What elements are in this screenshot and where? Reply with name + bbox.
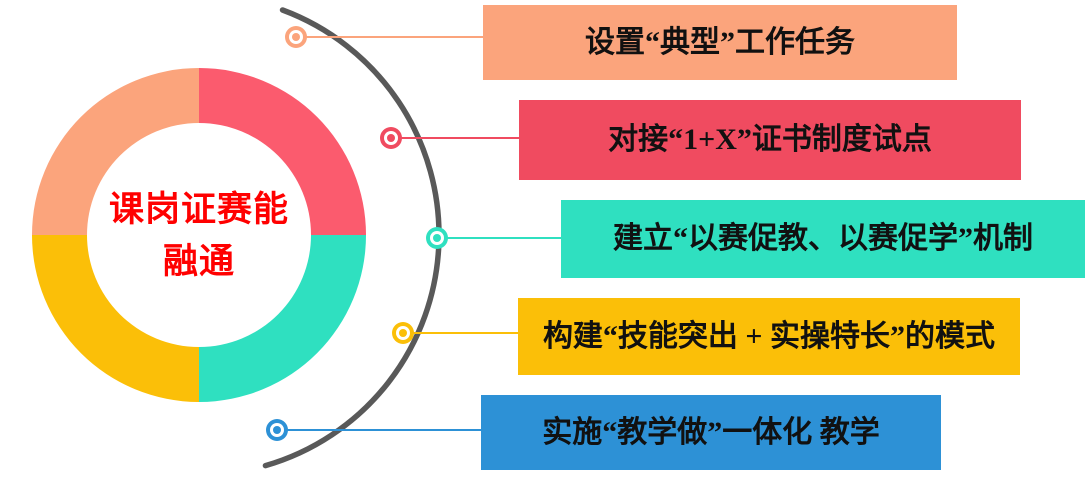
- label-box-1[interactable]: 设置“典型”工作任务: [483, 5, 957, 80]
- label-text-2: 对接“1+X”证书制度试点: [608, 123, 932, 157]
- marker-icon-5[interactable]: [266, 419, 288, 441]
- label-text-1: 设置“典型”工作任务: [585, 26, 855, 60]
- diagram-canvas: 课岗证赛能 融通 设置“典型”工作任务 对接“1+X”证书制度试点 建立“以赛促…: [0, 0, 1085, 494]
- label-box-5[interactable]: 实施“教学做”一体化 教学: [481, 395, 941, 470]
- label-box-2[interactable]: 对接“1+X”证书制度试点: [519, 100, 1021, 180]
- label-text-5: 实施“教学做”一体化 教学: [542, 416, 880, 450]
- label-text-3: 建立“以赛促教、以赛促学”机制: [613, 222, 1033, 256]
- amber-segment: [32, 235, 199, 402]
- donut-chart: [32, 68, 366, 402]
- marker-icon-4[interactable]: [392, 322, 414, 344]
- label-text-4: 构建“技能突出 + 实操特长”的模式: [543, 320, 995, 354]
- label-box-3[interactable]: 建立“以赛促教、以赛促学”机制: [561, 200, 1085, 278]
- peach-segment: [32, 68, 199, 235]
- teal-segment: [199, 235, 366, 402]
- pink-segment: [199, 68, 366, 235]
- marker-icon-2[interactable]: [380, 127, 402, 149]
- label-box-4[interactable]: 构建“技能突出 + 实操特长”的模式: [518, 298, 1020, 375]
- marker-icon-1[interactable]: [285, 26, 307, 48]
- marker-icon-3[interactable]: [426, 227, 448, 249]
